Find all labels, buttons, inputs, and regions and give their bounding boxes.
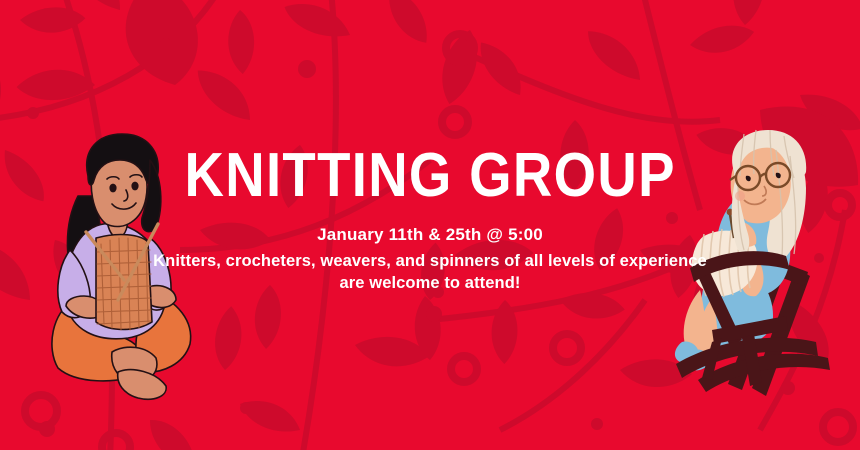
illustration-layer: [0, 0, 860, 450]
young-woman-knitting-illustration: [52, 134, 191, 399]
knitting-group-banner: KNITTING GROUP January 11th & 25th @ 5:0…: [0, 0, 860, 450]
elderly-woman-illustration: [675, 130, 830, 396]
young-woman-foot-lower: [118, 370, 166, 400]
elderly-woman-cheek: [735, 191, 745, 201]
